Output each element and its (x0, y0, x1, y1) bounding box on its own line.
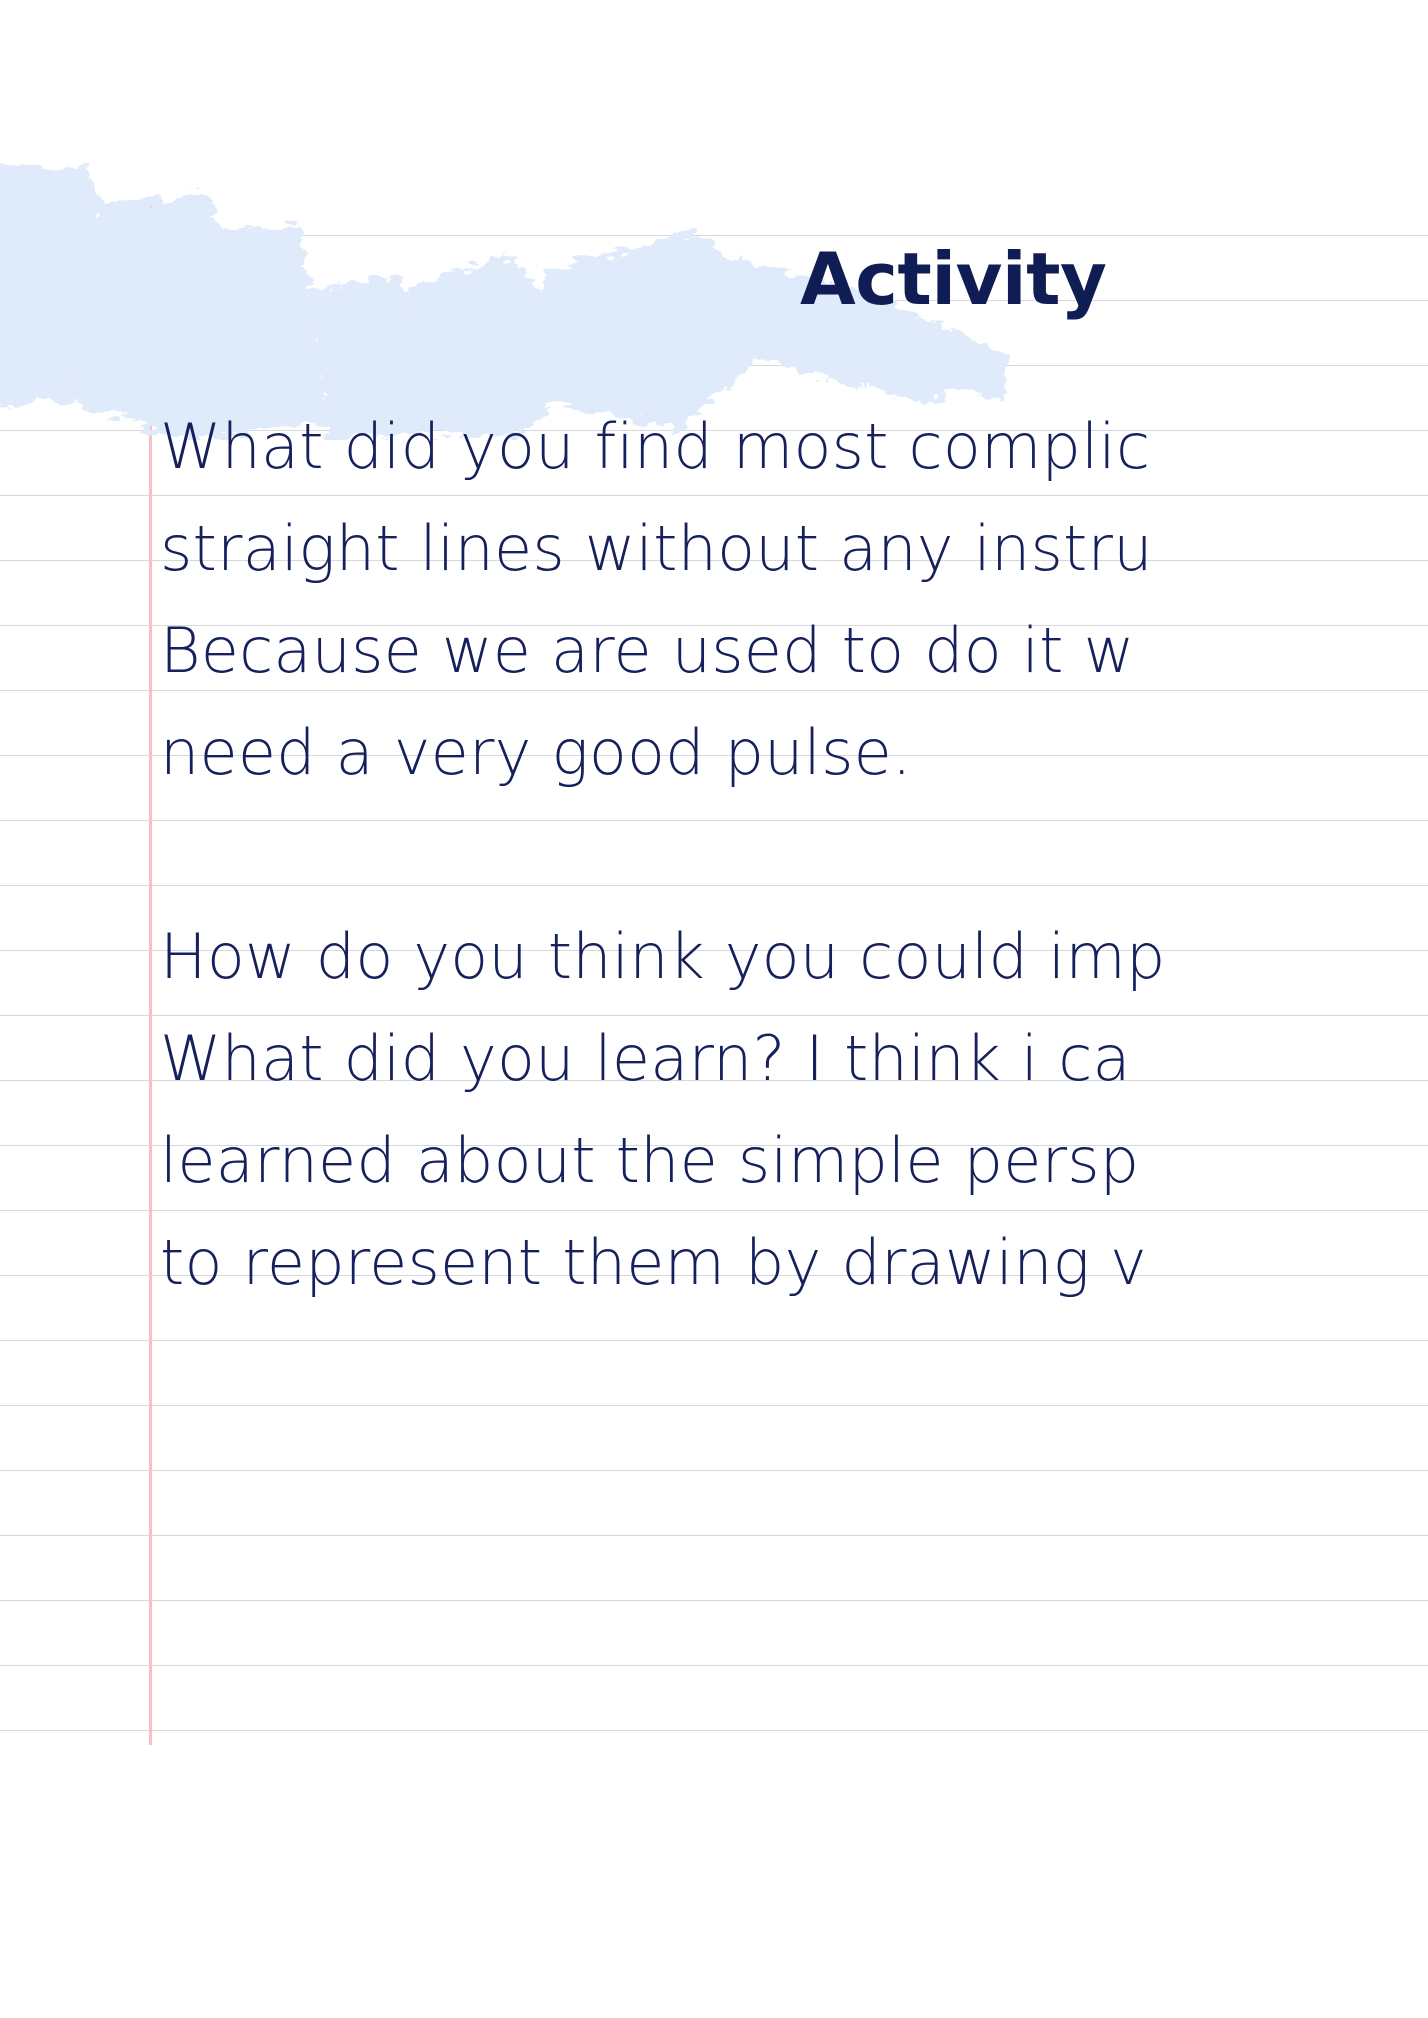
page-title: Activity (800, 243, 1106, 315)
text-line: Because we are used to do it w (160, 600, 1428, 702)
text-line-blank (160, 804, 1428, 906)
worksheet-page: Activity What did you find most complic … (0, 0, 1428, 2018)
rule-line (0, 365, 1428, 366)
rule-line (0, 1600, 1428, 1601)
rule-line (0, 1470, 1428, 1471)
rule-line (0, 1340, 1428, 1341)
text-line: straight lines without any instru (160, 498, 1428, 600)
text-line: learned about the simple persp (160, 1110, 1428, 1212)
text-line: What did you learn? I think i ca (160, 1008, 1428, 1110)
worksheet-answers: What did you find most complic straight … (160, 396, 1428, 1314)
text-line: need a very good pulse. (160, 702, 1428, 804)
text-line: to represent them by drawing v (160, 1212, 1428, 1314)
text-line: How do you think you could imp (160, 906, 1428, 1008)
rule-line (0, 300, 1428, 301)
rule-line (0, 1665, 1428, 1666)
text-line: What did you find most complic (160, 396, 1428, 498)
rule-line (0, 235, 1428, 236)
rule-line (0, 1405, 1428, 1406)
rule-line (0, 1535, 1428, 1536)
rule-line (0, 1730, 1428, 1731)
margin-line (149, 205, 152, 1745)
